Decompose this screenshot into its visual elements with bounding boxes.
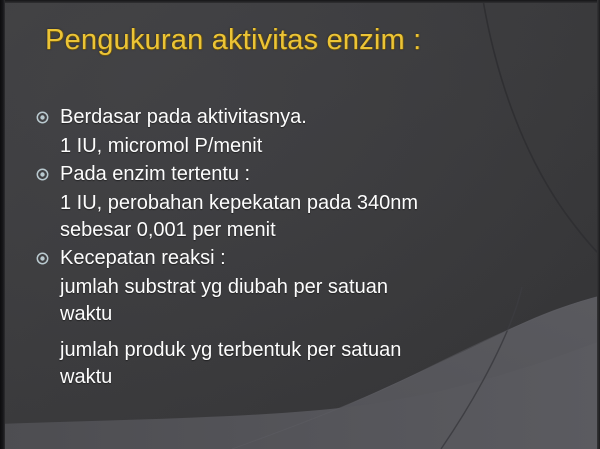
bullet-subline: jumlah substrat yg diubah per satuan (60, 274, 516, 301)
bullet-subline: 1 IU, perobahan kepekatan pada 340nm (60, 190, 516, 217)
bullet-subline: jumlah produk yg terbentuk per satuan (60, 337, 516, 364)
ring-dot-bullet-icon (36, 245, 60, 265)
bullet-group: Pada enzim tertentu : 1 IU, perobahan ke… (36, 161, 516, 244)
bullet-subline: sebesar 0,001 per menit (60, 217, 516, 244)
slide-content: Pengukuran aktivitas enzim : Berdasar pa… (0, 0, 600, 449)
bullet-subline: waktu (60, 301, 516, 328)
slide-body: Berdasar pada aktivitasnya. 1 IU, microm… (36, 104, 516, 391)
presentation-slide: Pengukuran aktivitas enzim : Berdasar pa… (0, 0, 600, 449)
bullet-subline: waktu (60, 364, 516, 391)
ring-dot-bullet-icon (36, 104, 60, 124)
bullet-group: Kecepatan reaksi : jumlah substrat yg di… (36, 245, 516, 391)
bullet-group: Berdasar pada aktivitasnya. 1 IU, microm… (36, 104, 516, 160)
bullet-label: Kecepatan reaksi : (60, 245, 226, 272)
bullet-item: Berdasar pada aktivitasnya. (36, 104, 516, 131)
bullet-item: Pada enzim tertentu : (36, 161, 516, 188)
bullet-label: Pada enzim tertentu : (60, 161, 250, 188)
slide-title: Pengukuran aktivitas enzim : (45, 22, 421, 58)
bullet-subline: 1 IU, micromol P/menit (60, 133, 516, 160)
bullet-item: Kecepatan reaksi : (36, 245, 516, 272)
ring-dot-bullet-icon (36, 161, 60, 181)
bullet-label: Berdasar pada aktivitasnya. (60, 104, 307, 131)
